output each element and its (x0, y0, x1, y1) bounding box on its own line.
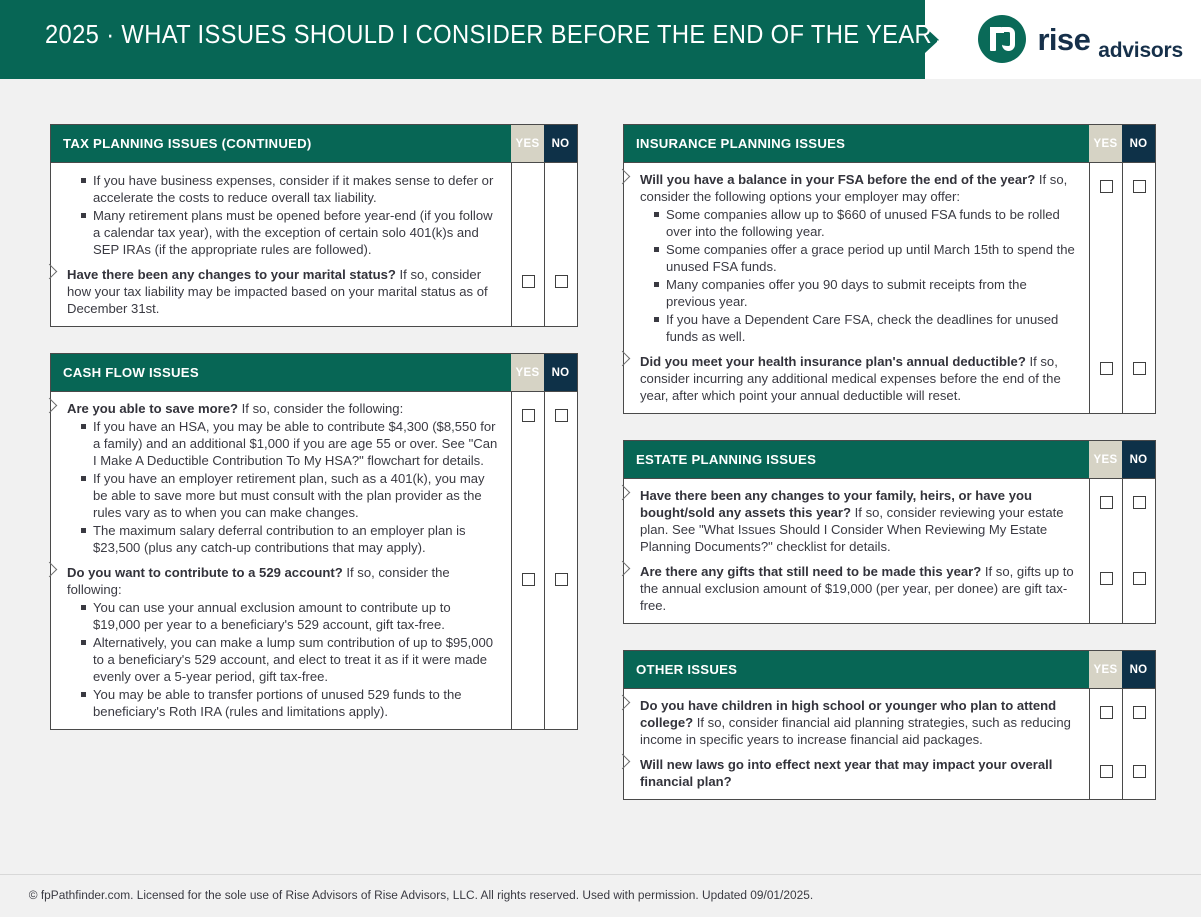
checkbox-square-icon[interactable] (522, 409, 535, 422)
column-header-no: NO (544, 354, 577, 391)
chevron-right-icon (42, 264, 58, 280)
bullet-item: The maximum salary deferral contribution… (81, 522, 501, 556)
checkbox-yes[interactable] (1090, 180, 1122, 193)
bullet-item: You may be able to transfer portions of … (81, 686, 501, 720)
column-header-no: NO (544, 125, 577, 162)
no-checkbox-column (544, 163, 577, 326)
page-header: 2025 · WHAT ISSUES SHOULD I CONSIDER BEF… (0, 0, 1201, 79)
no-checkbox-column (544, 392, 577, 729)
checklist-question-row: Have there been any changes to your fami… (624, 487, 1089, 555)
checkbox-square-icon[interactable] (522, 573, 535, 586)
bullet-item: If you have an employer retirement plan,… (81, 470, 501, 521)
checklist-card-other-issues: OTHER ISSUESYESNODo you have children in… (623, 650, 1156, 800)
checkbox-yes[interactable] (512, 275, 544, 288)
yes-checkbox-column (1089, 163, 1122, 413)
checklist-question-row: Do you have children in high school or y… (624, 697, 1089, 748)
question-list: Are you able to save more? If so, consid… (51, 392, 511, 729)
card-body: Will you have a balance in your FSA befo… (624, 162, 1155, 413)
checklist-question-row: Have there been any changes to your mari… (51, 266, 511, 317)
question-text: Have there been any changes to your mari… (67, 266, 501, 317)
checkbox-square-icon[interactable] (555, 275, 568, 288)
chevron-right-icon (615, 561, 631, 577)
checklist-question-row: Will new laws go into effect next year t… (624, 756, 1089, 790)
card-header: TAX PLANNING ISSUES (CONTINUED)YESNO (51, 125, 577, 162)
checkbox-no[interactable] (1123, 362, 1155, 375)
question-text: Do you have children in high school or y… (640, 697, 1079, 748)
card-header: ESTATE PLANNING ISSUESYESNO (624, 441, 1155, 478)
checkbox-no[interactable] (545, 573, 577, 586)
question-list: If you have business expenses, consider … (51, 163, 511, 326)
column-header-yes: YES (511, 354, 544, 391)
checkbox-square-icon[interactable] (522, 275, 535, 288)
checkbox-square-icon[interactable] (555, 409, 568, 422)
checkbox-square-icon[interactable] (555, 573, 568, 586)
ra-monogram-icon (978, 15, 1026, 63)
column-header-yes: YES (511, 125, 544, 162)
checklist-question-row: Are you able to save more? If so, consid… (51, 400, 511, 556)
logo-text-advisors: advisors (1098, 40, 1183, 63)
checkbox-square-icon[interactable] (1100, 706, 1113, 719)
bullet-item: Some companies allow up to $660 of unuse… (654, 206, 1079, 240)
right-column: INSURANCE PLANNING ISSUESYESNOWill you h… (578, 124, 1156, 826)
checklist-question-row: If you have business expenses, consider … (51, 172, 511, 258)
question-text: Will new laws go into effect next year t… (640, 756, 1079, 790)
column-header-yes: YES (1089, 651, 1122, 688)
checklist-columns: TAX PLANNING ISSUES (CONTINUED)YESNOIf y… (0, 79, 1201, 826)
left-column: TAX PLANNING ISSUES (CONTINUED)YESNOIf y… (0, 124, 578, 826)
bullet-item: If you have an HSA, you may be able to c… (81, 418, 501, 469)
checkbox-no[interactable] (1123, 496, 1155, 509)
checkbox-yes[interactable] (512, 573, 544, 586)
checkbox-square-icon[interactable] (1133, 765, 1146, 778)
question-text: Are there any gifts that still need to b… (640, 563, 1079, 614)
chevron-right-icon (615, 695, 631, 711)
document-page: 2025 · WHAT ISSUES SHOULD I CONSIDER BEF… (0, 0, 1201, 826)
brand-logo: rise advisors (978, 15, 1183, 63)
yes-checkbox-column (1089, 479, 1122, 623)
checkbox-yes[interactable] (512, 409, 544, 422)
question-list: Do you have children in high school or y… (624, 689, 1089, 799)
question-bullet-list: If you have an HSA, you may be able to c… (67, 418, 501, 556)
chevron-right-icon (42, 398, 58, 414)
checkbox-yes[interactable] (1090, 765, 1122, 778)
checkbox-square-icon[interactable] (1133, 362, 1146, 375)
card-body: If you have business expenses, consider … (51, 162, 577, 326)
checkbox-square-icon[interactable] (1133, 180, 1146, 193)
chevron-right-icon (42, 562, 58, 578)
checklist-question-row: Did you meet your health insurance plan'… (624, 353, 1089, 404)
question-text: Have there been any changes to your fami… (640, 487, 1079, 555)
checkbox-no[interactable] (1123, 180, 1155, 193)
card-header: CASH FLOW ISSUESYESNO (51, 354, 577, 391)
question-list: Have there been any changes to your fami… (624, 479, 1089, 623)
card-title: TAX PLANNING ISSUES (CONTINUED) (51, 125, 511, 162)
checkbox-yes[interactable] (1090, 572, 1122, 585)
checkbox-square-icon[interactable] (1100, 362, 1113, 375)
chevron-right-icon (615, 169, 631, 185)
card-body: Have there been any changes to your fami… (624, 478, 1155, 623)
column-header-no: NO (1122, 651, 1155, 688)
column-header-no: NO (1122, 125, 1155, 162)
question-text: Will you have a balance in your FSA befo… (640, 171, 1079, 205)
checklist-card-estate-planning-issues: ESTATE PLANNING ISSUESYESNOHave there be… (623, 440, 1156, 624)
logo-text-rise: rise (1037, 24, 1090, 55)
question-text: Do you want to contribute to a 529 accou… (67, 564, 501, 598)
checklist-card-cash-flow-issues: CASH FLOW ISSUESYESNOAre you able to sav… (50, 353, 578, 730)
no-checkbox-column (1122, 163, 1155, 413)
question-list: Will you have a balance in your FSA befo… (624, 163, 1089, 413)
column-header-yes: YES (1089, 441, 1122, 478)
card-title: CASH FLOW ISSUES (51, 354, 511, 391)
no-checkbox-column (1122, 479, 1155, 623)
bullet-item: Many companies offer you 90 days to subm… (654, 276, 1079, 310)
no-checkbox-column (1122, 689, 1155, 799)
checkbox-square-icon[interactable] (1100, 572, 1113, 585)
checkbox-yes[interactable] (1090, 496, 1122, 509)
checkbox-square-icon[interactable] (1133, 706, 1146, 719)
chevron-right-icon (615, 754, 631, 770)
checkbox-square-icon[interactable] (1133, 496, 1146, 509)
checkbox-yes[interactable] (1090, 362, 1122, 375)
question-bullet-list: You can use your annual exclusion amount… (67, 599, 501, 720)
bullet-item: Alternatively, you can make a lump sum c… (81, 634, 501, 685)
page-footer: © fpPathfinder.com. Licensed for the sol… (0, 874, 1201, 902)
checkbox-no[interactable] (545, 275, 577, 288)
bullet-item: Some companies offer a grace period up u… (654, 241, 1079, 275)
question-bullet-list: If you have business expenses, consider … (67, 172, 501, 258)
card-header: OTHER ISSUESYESNO (624, 651, 1155, 688)
card-title: INSURANCE PLANNING ISSUES (624, 125, 1089, 162)
yes-checkbox-column (511, 392, 544, 729)
checkbox-square-icon[interactable] (1133, 572, 1146, 585)
checklist-card-insurance-planning-issues: INSURANCE PLANNING ISSUESYESNOWill you h… (623, 124, 1156, 414)
bullet-item: Many retirement plans must be opened bef… (81, 207, 501, 258)
checkbox-no[interactable] (545, 409, 577, 422)
bullet-item: If you have business expenses, consider … (81, 172, 501, 206)
checkbox-square-icon[interactable] (1100, 180, 1113, 193)
checkbox-no[interactable] (1123, 706, 1155, 719)
column-header-no: NO (1122, 441, 1155, 478)
checkbox-no[interactable] (1123, 765, 1155, 778)
question-bullet-list: Some companies allow up to $660 of unuse… (640, 206, 1079, 345)
yes-checkbox-column (511, 163, 544, 326)
checklist-card-tax-planning-issues-continued: TAX PLANNING ISSUES (CONTINUED)YESNOIf y… (50, 124, 578, 327)
checklist-question-row: Do you want to contribute to a 529 accou… (51, 564, 511, 720)
bullet-item: You can use your annual exclusion amount… (81, 599, 501, 633)
checkbox-yes[interactable] (1090, 706, 1122, 719)
checklist-question-row: Will you have a balance in your FSA befo… (624, 171, 1089, 345)
question-text: Did you meet your health insurance plan'… (640, 353, 1079, 404)
card-body: Do you have children in high school or y… (624, 688, 1155, 799)
yes-checkbox-column (1089, 689, 1122, 799)
card-title: OTHER ISSUES (624, 651, 1089, 688)
column-header-yes: YES (1089, 125, 1122, 162)
checkbox-square-icon[interactable] (1100, 496, 1113, 509)
chevron-right-icon (615, 485, 631, 501)
page-title: 2025 · WHAT ISSUES SHOULD I CONSIDER BEF… (45, 21, 946, 50)
chevron-right-icon (615, 351, 631, 367)
card-header: INSURANCE PLANNING ISSUESYESNO (624, 125, 1155, 162)
card-body: Are you able to save more? If so, consid… (51, 391, 577, 729)
footer-copyright: © fpPathfinder.com. Licensed for the sol… (0, 888, 1153, 902)
checkbox-no[interactable] (1123, 572, 1155, 585)
checklist-question-row: Are there any gifts that still need to b… (624, 563, 1089, 614)
card-title: ESTATE PLANNING ISSUES (624, 441, 1089, 478)
checkbox-square-icon[interactable] (1100, 765, 1113, 778)
question-text: Are you able to save more? If so, consid… (67, 400, 501, 417)
bullet-item: If you have a Dependent Care FSA, check … (654, 311, 1079, 345)
